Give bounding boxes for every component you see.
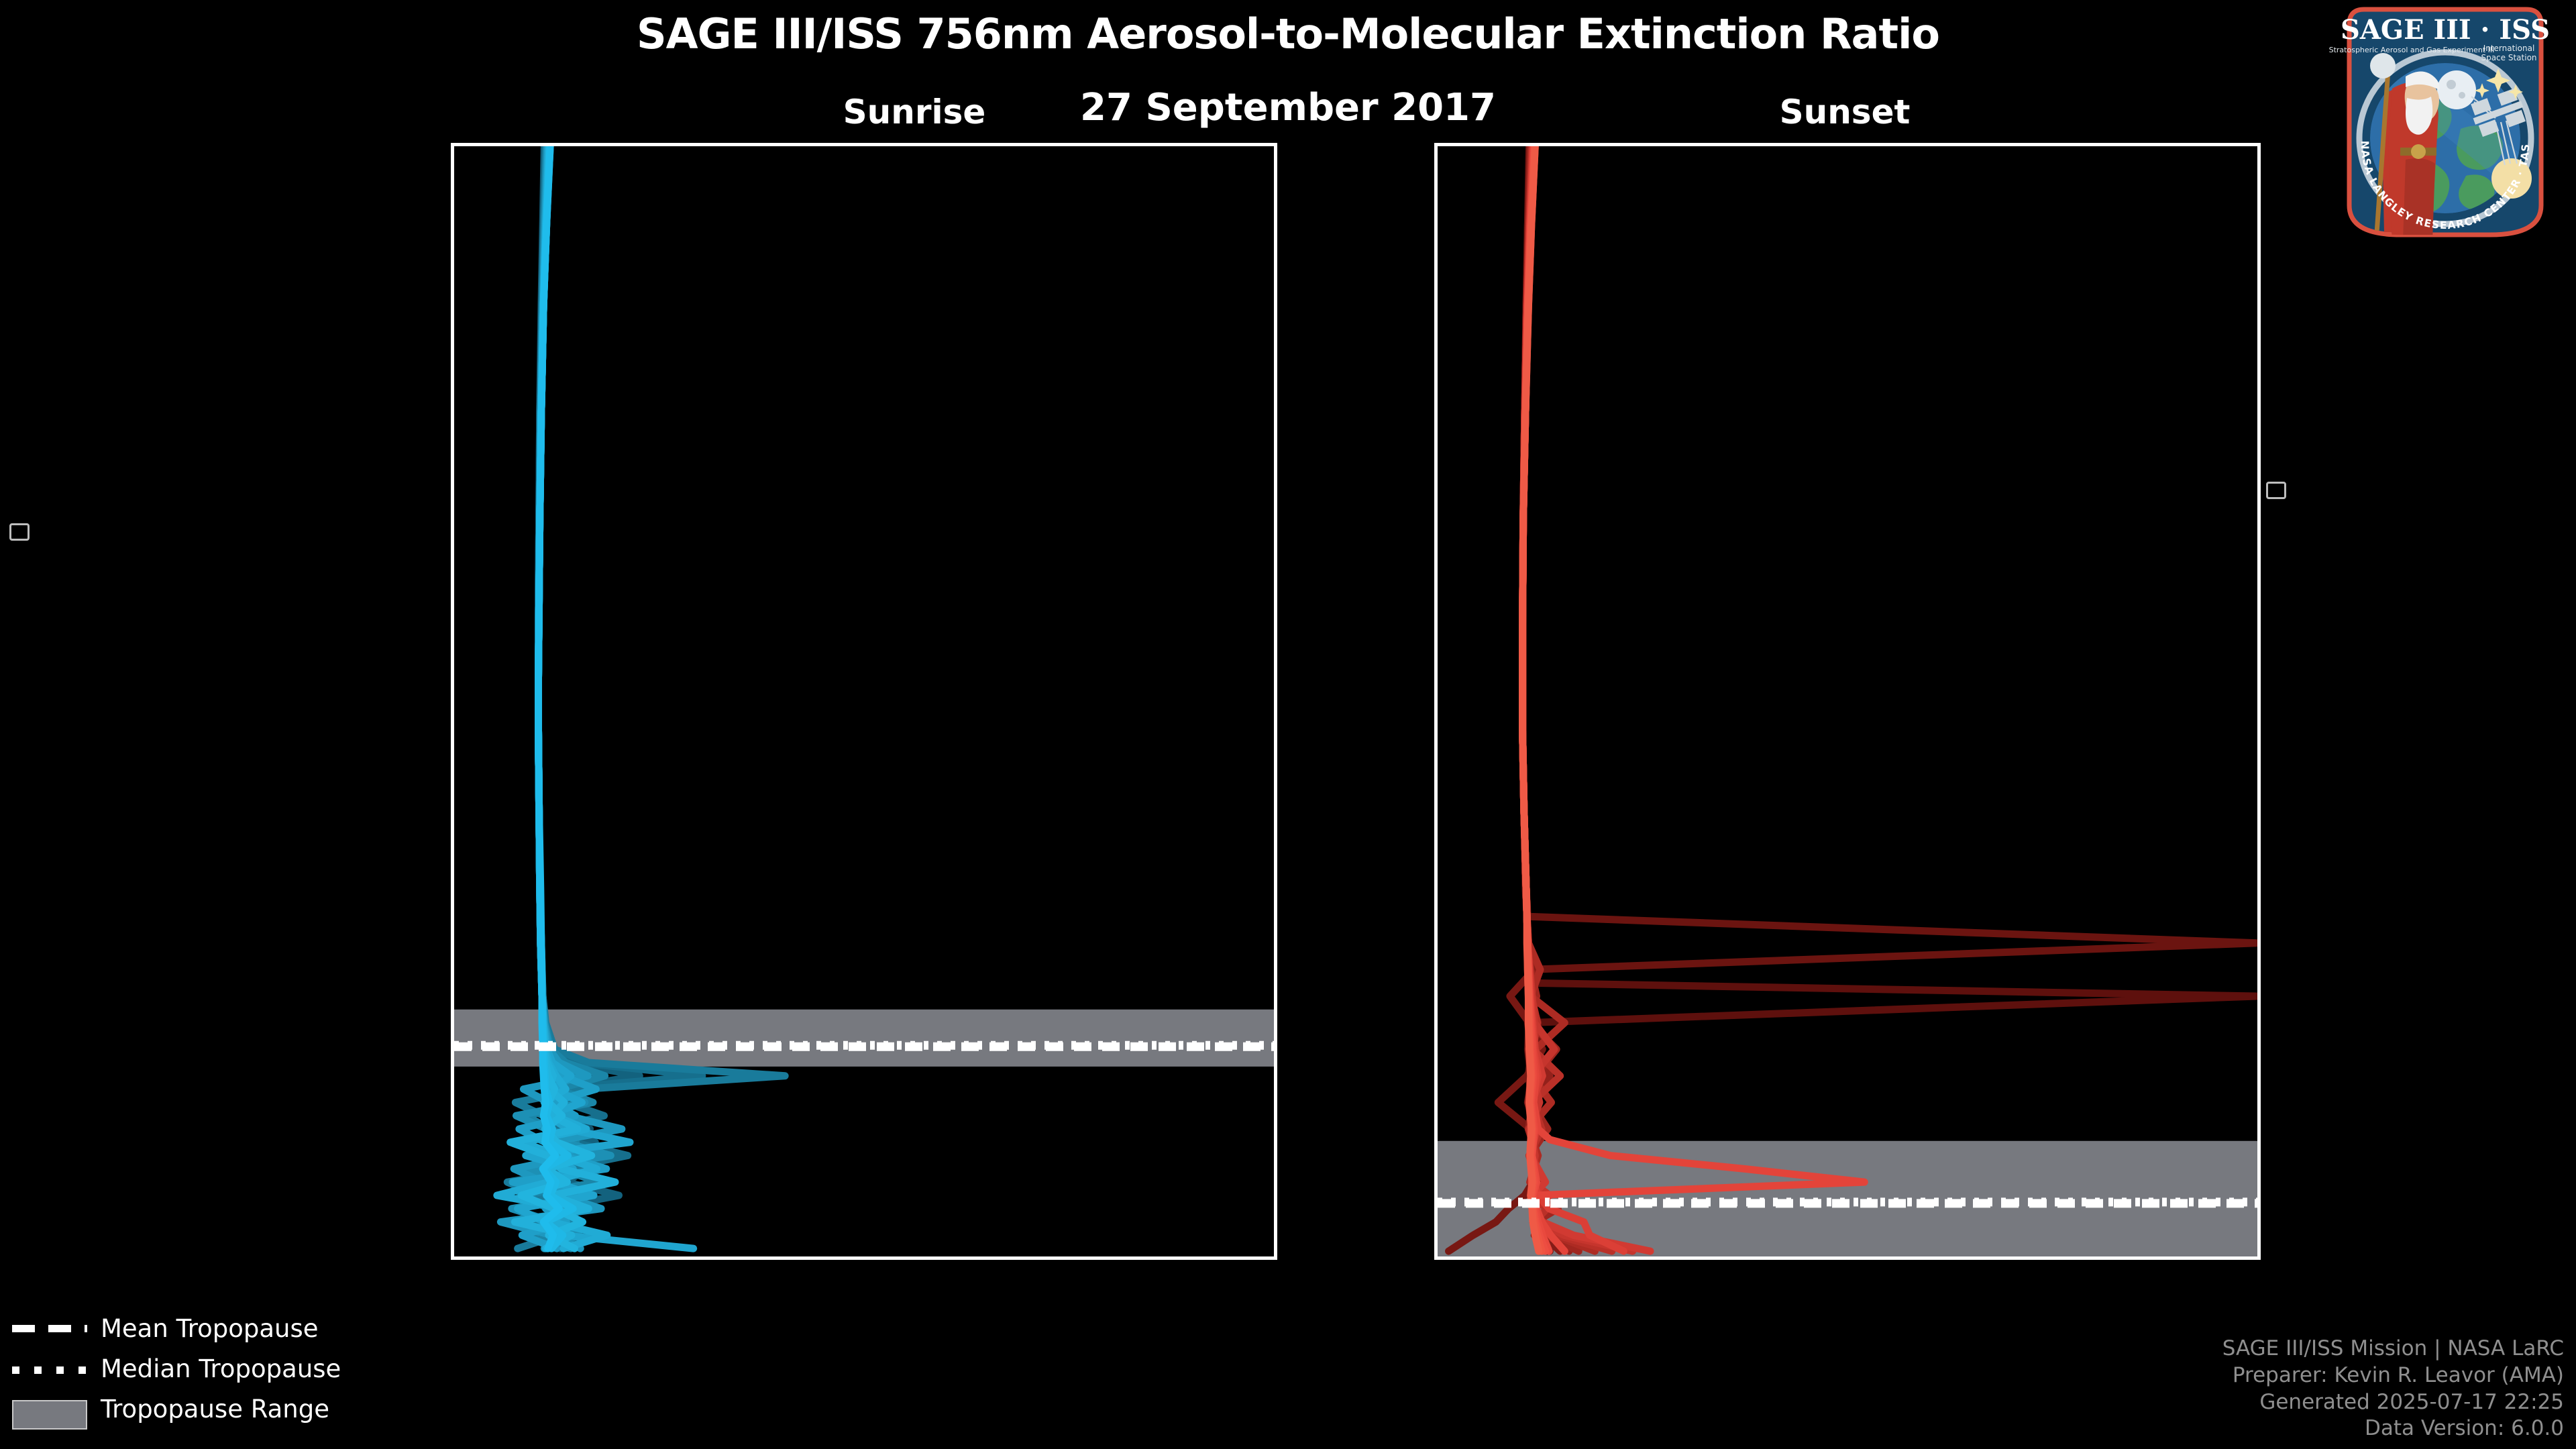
logo-subtitle-left: Stratospheric Aerosol and Gas Experiment… — [2329, 46, 2495, 54]
sunrise-legend[interactable] — [9, 523, 30, 541]
logo-subtitle-right-1: International — [2483, 44, 2535, 53]
profile-line — [1523, 146, 1865, 1251]
sunset-plot-area — [1434, 143, 2261, 1260]
page-title: SAGE III/ISS 756nm Aerosol-to-Molecular … — [0, 9, 2576, 58]
profile-line — [1523, 146, 2257, 1251]
date-subtitle: 27 September 2017 — [0, 86, 2576, 129]
median-tropopause-label: Median Tropopause — [101, 1354, 341, 1383]
profile-line — [1523, 146, 1650, 1251]
sunset-profile-canvas — [1438, 146, 2257, 1256]
sage-iii-iss-mission-patch-logo: SAGE III · ISS Stratospheric Aerosol and… — [2322, 4, 2568, 240]
legend-item-mean-tropopause: Mean Tropopause — [12, 1308, 374, 1348]
credits-preparer: Preparer: Kevin R. Leavor (AMA) — [2222, 1362, 2564, 1389]
gray-band-swatch-icon — [12, 1399, 87, 1419]
legend-item-tropopause-range: Tropopause Range — [12, 1389, 374, 1429]
logo-title: SAGE III · ISS — [2341, 14, 2550, 46]
sunrise-panel-label: Sunrise — [794, 93, 1035, 131]
profile-line — [1523, 146, 2257, 1251]
tropopause-range-label: Tropopause Range — [101, 1395, 329, 1424]
tropopause-legend: Mean Tropopause Median Tropopause Tropop… — [12, 1308, 374, 1429]
mean-tropopause-label: Mean Tropopause — [101, 1314, 319, 1343]
credits-block: SAGE III/ISS Mission | NASA LaRC Prepare… — [2222, 1336, 2564, 1442]
sunrise-plot-area — [451, 143, 1277, 1260]
credits-generated: Generated 2025-07-17 22:25 — [2222, 1389, 2564, 1416]
dashed-line-icon — [12, 1318, 87, 1338]
credits-data-version: Data Version: 6.0.0 — [2222, 1415, 2564, 1442]
legend-item-median-tropopause: Median Tropopause — [12, 1348, 374, 1389]
sunset-legend[interactable] — [2266, 482, 2286, 499]
logo-subtitle-right-2: Space Station — [2481, 53, 2536, 62]
sunset-panel-label: Sunset — [1724, 93, 1966, 131]
credits-mission: SAGE III/ISS Mission | NASA LaRC — [2222, 1336, 2564, 1362]
dotted-line-icon — [12, 1358, 87, 1379]
sunrise-profile-canvas — [454, 146, 1274, 1256]
